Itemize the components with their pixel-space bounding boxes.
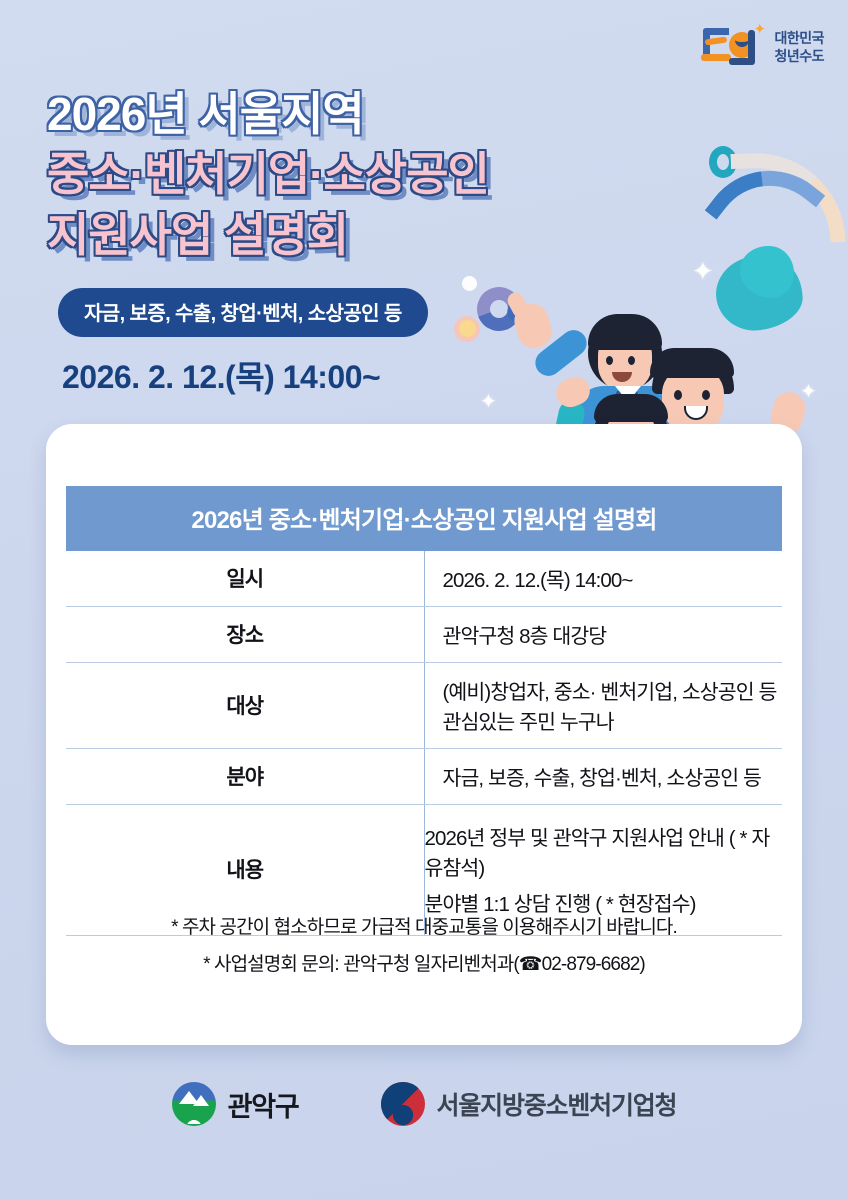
row-value-ilsi: 2026. 2. 12.(목) 14:00~ <box>424 551 782 607</box>
row-value-daesang: (예비)창업자, 중소· 벤처기업, 소상공인 등 관심있는 주민 누구나 <box>424 663 782 749</box>
info-card: 2026년 중소·벤처기업·소상공인 지원사업 설명회 일시 2026. 2. … <box>46 424 802 1045</box>
headline: 2026년 서울지역 중소·벤처기업·소상공인 지원사업 설명회 <box>47 84 687 265</box>
row-value-bunya: 자금, 보증, 수출, 창업·벤처, 소상공인 등 <box>424 749 782 805</box>
footer-logos: 관악구 서울지방중소벤처기업청 <box>0 1082 848 1126</box>
sba-label: 서울지방중소벤처기업청 <box>437 1086 677 1122</box>
table-row: 분야 자금, 보증, 수출, 창업·벤처, 소상공인 등 <box>66 749 782 805</box>
event-date-headline: 2026. 2. 12.(목) 14:00~ <box>62 352 380 398</box>
row-label-jangso: 장소 <box>66 607 424 663</box>
brand-logo: ✦ 대한민국 청년수도 <box>701 22 824 72</box>
gwanak-mountain-icon <box>172 1082 216 1126</box>
gwanak-gu-logo: 관악구 <box>172 1082 299 1126</box>
table-header: 2026년 중소·벤처기업·소상공인 지원사업 설명회 <box>66 486 782 551</box>
sparkle-icon: ✦ <box>753 22 766 37</box>
event-details-table: 2026년 중소·벤처기업·소상공인 지원사업 설명회 일시 2026. 2. … <box>66 486 782 936</box>
brand-tagline-line2: 청년수도 <box>774 47 824 65</box>
table-row: 장소 관악구청 8층 대강당 <box>66 607 782 663</box>
gwanak-logo-icon: ✦ <box>701 22 765 72</box>
poster-root: ✦ 대한민국 청년수도 ✦ ✦ ✦ <box>0 0 848 1200</box>
brand-tagline: 대한민국 청년수도 <box>774 29 824 66</box>
brand-tagline-line1: 대한민국 <box>774 29 824 47</box>
sba-logo: 서울지방중소벤처기업청 <box>381 1082 677 1126</box>
row-value-jangso: 관악구청 8층 대강당 <box>424 607 782 663</box>
notes-section: * 주차 공간이 협소하므로 가급적 대중교통을 이용해주시기 바랍니다. * … <box>46 909 802 983</box>
note-parking: * 주차 공간이 협소하므로 가급적 대중교통을 이용해주시기 바랍니다. <box>46 909 802 946</box>
taegeuk-icon <box>381 1082 425 1126</box>
headline-line-1: 2026년 서울지역 <box>47 84 687 144</box>
note-contact: * 사업설명회 문의: 관악구청 일자리벤처과(☎02-879-6682) <box>46 946 802 983</box>
headline-line-2: 중소·벤처기업·소상공인 <box>47 144 687 204</box>
table-row: 대상 (예비)창업자, 중소· 벤처기업, 소상공인 등 관심있는 주민 누구나 <box>66 663 782 749</box>
teal-ring-decoration <box>709 146 737 178</box>
gwanak-gu-label: 관악구 <box>228 1085 299 1124</box>
headline-line-3: 지원사업 설명회 <box>47 205 687 265</box>
row-label-bunya: 분야 <box>66 749 424 805</box>
row-label-ilsi: 일시 <box>66 551 424 607</box>
row-label-daesang: 대상 <box>66 663 424 749</box>
table-row: 일시 2026. 2. 12.(목) 14:00~ <box>66 551 782 607</box>
topic-badge: 자금, 보증, 수출, 창업·벤처, 소상공인 등 <box>58 288 428 337</box>
row-value-naeyong-line1: 2026년 정부 및 관악구 지원사업 안내 ( * 자유참석) <box>425 827 770 880</box>
